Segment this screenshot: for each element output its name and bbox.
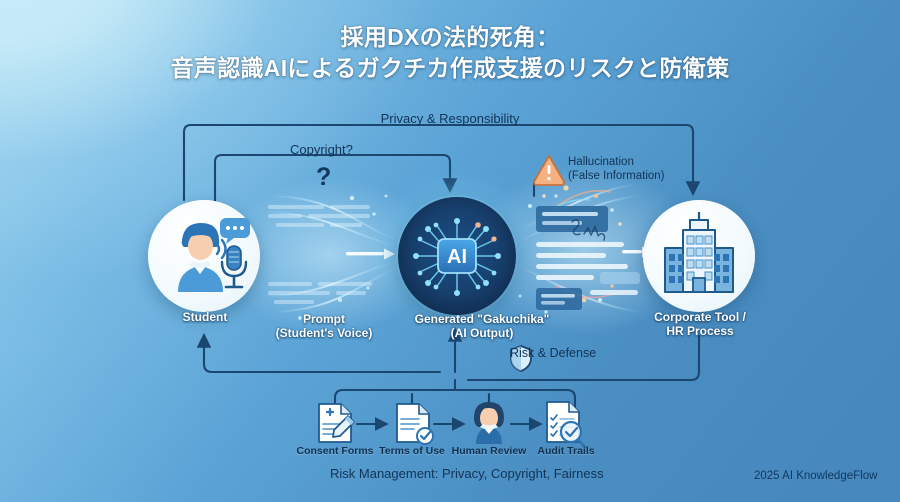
infographic-canvas: 採用DXの法的死角： 音声認識AIによるガクチカ作成支援のリスクと防衛策 Pri… (0, 0, 900, 502)
person-reviewer-icon (474, 402, 504, 444)
document-pencil-icon (319, 404, 354, 442)
risk-steps-icons (0, 0, 900, 502)
checklist-magnifier-icon (547, 402, 585, 447)
footer-credit: 2025 AI KnowledgeFlow (754, 470, 877, 482)
step-label-human-review: Human Review (447, 445, 531, 457)
risk-management-caption: Risk Management: Privacy, Copyright, Fai… (330, 466, 604, 481)
step-label-consent-forms: Consent Forms (293, 445, 377, 457)
document-check-icon (397, 404, 433, 444)
step-label-audit-trails: Audit Trails (524, 445, 608, 457)
step-label-terms-of-use: Terms of Use (370, 445, 454, 457)
